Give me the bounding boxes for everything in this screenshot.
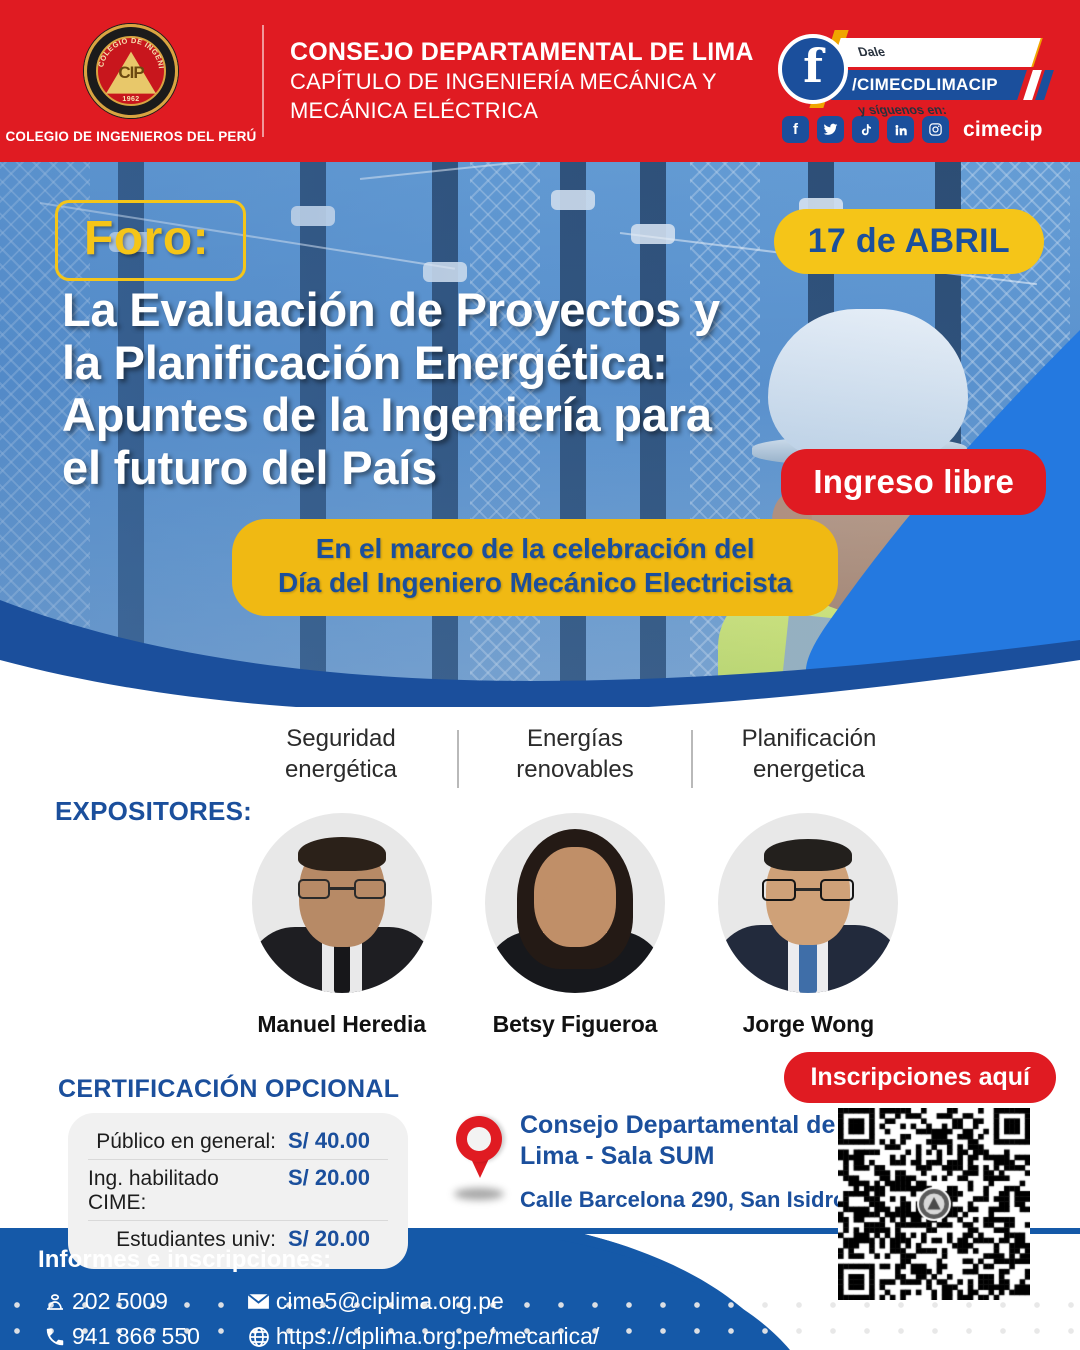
phone-icon: [38, 1326, 72, 1348]
venue-block: Consejo Departamental de Lima - Sala SUM…: [452, 1110, 846, 1213]
footer-phone-mobile: 941 866 550: [72, 1323, 200, 1350]
speaker-name-2: Jorge Wong: [743, 1011, 874, 1038]
date-text: 17 de ABRIL: [808, 222, 1010, 260]
seal-year: 1962: [83, 96, 179, 103]
globe-icon: [242, 1325, 276, 1349]
speakers-row: Manuel Heredia Betsy Figueroa: [225, 813, 925, 1038]
speaker-name-0: Manuel Heredia: [257, 1011, 426, 1038]
title-line-2: la Planificación Energética:: [62, 337, 720, 390]
foro-label: Foro:: [84, 212, 209, 265]
footer-email: cime5@ciplima.org.pe: [276, 1288, 504, 1315]
header-bar: COLEGIO DE INGENIEROS DEL PERU CIP 1962 …: [0, 0, 1080, 162]
price-value-1: S/ 20.00: [288, 1165, 388, 1191]
facebook-cta-block[interactable]: Dale "me gusta" y síguenos en: /CIMECDLI…: [778, 34, 1046, 143]
date-badge: 17 de ABRIL: [774, 209, 1044, 274]
footer-phone-fixed: 202 5009: [72, 1288, 168, 1315]
facebook-icon[interactable]: f: [782, 116, 809, 143]
venue-name-line-2: Lima - Sala SUM: [520, 1141, 846, 1172]
subtitle-banner: En el marco de la celebración del Día de…: [232, 519, 838, 616]
price-row: Público en general: S/ 40.00: [88, 1123, 388, 1159]
price-label-0: Público en general:: [96, 1130, 276, 1154]
topic-0-line2: energética: [225, 755, 457, 786]
price-label-1: Ing. habilitado CIME:: [88, 1167, 276, 1215]
subtitle-line-1: En el marco de la celebración del: [278, 532, 792, 566]
header-titles: CONSEJO DEPARTAMENTAL DE LIMA CAPÍTULO D…: [264, 36, 754, 125]
foro-label-badge: Foro:: [55, 200, 246, 281]
title-line-1: La Evaluación de Proyectos y: [62, 284, 720, 337]
topic-2-line1: Planificación: [693, 724, 925, 755]
venue-address: Calle Barcelona 290, San Isidro: [520, 1187, 846, 1213]
avatar: [718, 813, 898, 993]
topic-0-line1: Seguridad: [225, 724, 457, 755]
fb-cta-prefix: Dale: [838, 38, 1031, 67]
location-pin-icon: [452, 1110, 508, 1213]
registration-badge[interactable]: Inscripciones aquí: [784, 1052, 1056, 1103]
header-line-1: CONSEJO DEPARTAMENTAL DE LIMA: [290, 36, 754, 68]
free-entry-badge: Ingreso libre: [781, 449, 1046, 515]
cip-logo-block: COLEGIO DE INGENIEROS DEL PERU CIP 1962 …: [0, 0, 262, 162]
venue-text: Consejo Departamental de Lima - Sala SUM…: [508, 1110, 846, 1213]
title-line-3: Apuntes de la Ingeniería para: [62, 389, 720, 442]
facebook-cta-text-wrap: Dale "me gusta" y síguenos en:: [831, 38, 1040, 67]
footer-website: https://ciplima.org.pe/mecanica/: [276, 1323, 599, 1350]
hero-section: Foro: 17 de ABRIL La Evaluación de Proye…: [0, 162, 1080, 707]
price-value-0: S/ 40.00: [288, 1128, 388, 1154]
topics-row: Seguridad energética Energías renovables…: [225, 724, 925, 788]
registration-label: Inscripciones aquí: [810, 1063, 1030, 1091]
envelope-icon: [242, 1289, 276, 1314]
footer-online: cime5@ciplima.org.pe https://ciplima.org…: [242, 1288, 599, 1350]
expositores-label: EXPOSITORES:: [55, 796, 252, 827]
facebook-icon[interactable]: f: [778, 34, 848, 104]
avatar: [485, 813, 665, 993]
topic-0: Seguridad energética: [225, 724, 457, 788]
footer-phone-fixed-row[interactable]: 202 5009: [38, 1288, 200, 1315]
topic-2-line2: energetica: [693, 755, 925, 786]
seal-monogram: CIP: [118, 63, 143, 83]
facebook-handle-wrap[interactable]: /CIMECDLIMACIP: [831, 70, 1027, 100]
topic-1-line2: renovables: [459, 755, 691, 786]
topic-1: Energías renovables: [459, 724, 691, 788]
qr-code[interactable]: [838, 1108, 1030, 1300]
speaker-card-1: Betsy Figueroa: [458, 813, 691, 1038]
header-line-2: CAPÍTULO DE INGENIERÍA MECÁNICA Y: [290, 68, 754, 97]
footer-website-row[interactable]: https://ciplima.org.pe/mecanica/: [242, 1323, 599, 1350]
certification-title: CERTIFICACIÓN OPCIONAL: [58, 1075, 399, 1104]
fb-cta-suffix: y síguenos en:: [838, 96, 1031, 125]
topic-1-line1: Energías: [459, 724, 691, 755]
event-poster: COLEGIO DE INGENIEROS DEL PERU CIP 1962 …: [0, 0, 1080, 1350]
footer-email-row[interactable]: cime5@ciplima.org.pe: [242, 1288, 599, 1315]
footer-phones: 202 5009 941 866 550: [38, 1288, 200, 1350]
subtitle-line-2: Día del Ingeniero Mecánico Electricista: [278, 566, 792, 600]
speaker-card-0: Manuel Heredia: [225, 813, 458, 1038]
price-row: Ing. habilitado CIME: S/ 20.00: [88, 1159, 388, 1220]
speaker-name-1: Betsy Figueroa: [493, 1011, 658, 1038]
cip-seal-icon: COLEGIO DE INGENIEROS DEL PERU CIP 1962: [83, 23, 179, 119]
facebook-handle: /CIMECDLIMACIP: [836, 70, 1022, 100]
header-line-3: MECÁNICA ELÉCTRICA: [290, 97, 754, 126]
speaker-card-2: Jorge Wong: [692, 813, 925, 1038]
footer-contact: Informes e inscripciones: 202 5009: [38, 1246, 599, 1350]
avatar: [252, 813, 432, 993]
venue-name-line-1: Consejo Departamental de: [520, 1110, 846, 1141]
topic-2: Planificación energetica: [693, 724, 925, 788]
telephone-icon: [38, 1290, 72, 1314]
page-title: La Evaluación de Proyectos y la Planific…: [62, 284, 720, 495]
free-entry-label: Ingreso libre: [813, 463, 1014, 500]
footer-title: Informes e inscripciones:: [38, 1246, 599, 1274]
footer-phone-mobile-row[interactable]: 941 866 550: [38, 1323, 200, 1350]
title-line-4: el futuro del País: [62, 442, 720, 495]
org-caption: COLEGIO DE INGENIEROS DEL PERÚ: [5, 129, 256, 144]
